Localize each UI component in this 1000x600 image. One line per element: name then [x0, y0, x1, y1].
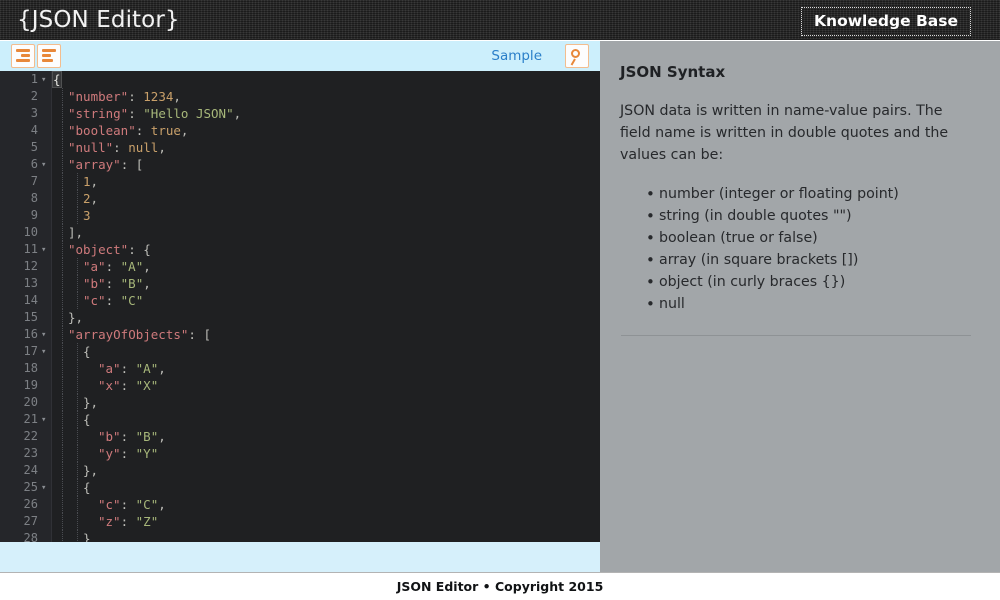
- token-pun: ],: [68, 225, 83, 240]
- token-pun: ,: [181, 123, 189, 138]
- code-content[interactable]: 1▾{2"number": 1234,3"string": "Hello JSO…: [0, 71, 600, 542]
- line-number: 20: [0, 394, 38, 411]
- token-str: "C": [136, 497, 159, 512]
- line-number: 21: [0, 411, 38, 428]
- token-pun: ,: [91, 191, 99, 206]
- code-line[interactable]: 26"c": "C",: [0, 496, 600, 513]
- code-line[interactable]: 93: [0, 207, 600, 224]
- token-str: "C": [121, 293, 144, 308]
- knowledge-base-panel: JSON Syntax JSON data is written in name…: [600, 41, 1000, 572]
- token-pun: :: [121, 446, 136, 461]
- indent-guide: [62, 445, 63, 462]
- indent-guide: [77, 207, 78, 224]
- code-line[interactable]: 25▾{: [0, 479, 600, 496]
- token-str: "X": [136, 378, 159, 393]
- indent-guide: [77, 190, 78, 207]
- code-line[interactable]: 2"number": 1234,: [0, 88, 600, 105]
- indent-guide: [62, 530, 63, 542]
- token-pun: :: [121, 429, 136, 444]
- indent-guide: [77, 394, 78, 411]
- token-str: "Y": [136, 446, 159, 461]
- kb-list-item: object (in curly braces {}): [620, 271, 972, 293]
- line-number: 28: [0, 530, 38, 542]
- token-num: 1234: [143, 89, 173, 104]
- line-number: 23: [0, 445, 38, 462]
- code-line-text: "null": null,: [68, 139, 166, 156]
- indent-guide: [62, 156, 63, 173]
- token-pun: },: [68, 310, 83, 325]
- fold-toggle-icon[interactable]: ▾: [41, 411, 50, 429]
- code-line[interactable]: 24},: [0, 462, 600, 479]
- indent-guide: [77, 462, 78, 479]
- kb-divider: [621, 335, 971, 336]
- indent-guide: [62, 394, 63, 411]
- token-pun: {: [83, 480, 91, 495]
- token-pun: ,: [158, 140, 166, 155]
- token-key: "a": [83, 259, 106, 274]
- kb-value-types-list: number (integer or floating point)string…: [620, 183, 972, 315]
- token-pun: ,: [143, 276, 151, 291]
- kb-list-item: array (in square brackets []): [620, 249, 972, 271]
- token-pun: :: [121, 497, 136, 512]
- code-line[interactable]: 4"boolean": true,: [0, 122, 600, 139]
- token-key: "z": [98, 514, 121, 529]
- token-lit: null: [128, 140, 158, 155]
- indent-guide: [77, 428, 78, 445]
- indent-guide: [62, 513, 63, 530]
- line-number: 8: [0, 190, 38, 207]
- line-number: 7: [0, 173, 38, 190]
- token-key: "arrayOfObjects": [68, 327, 188, 342]
- line-number: 11: [0, 241, 38, 258]
- line-number: 5: [0, 139, 38, 156]
- token-key: "c": [83, 293, 106, 308]
- editor-toolbar: Sample: [0, 41, 600, 71]
- code-line-text: "c": "C",: [98, 496, 166, 513]
- expand-json-icon: [42, 49, 56, 52]
- code-line[interactable]: 23"y": "Y": [0, 445, 600, 462]
- search-button[interactable]: [565, 44, 589, 68]
- line-number: 4: [0, 122, 38, 139]
- code-line-text: },: [83, 462, 98, 479]
- code-line[interactable]: 17▾{: [0, 343, 600, 360]
- indent-guide: [77, 411, 78, 428]
- token-str: "Hello JSON": [143, 106, 233, 121]
- kb-list-item: number (integer or floating point): [620, 183, 972, 205]
- indent-guide: [77, 377, 78, 394]
- code-line-text: "string": "Hello JSON",: [68, 105, 241, 122]
- token-pun: }: [83, 531, 91, 542]
- indent-guide: [77, 292, 78, 309]
- kb-panel-paragraph: JSON data is written in name-value pairs…: [620, 100, 968, 166]
- code-line-text: ],: [68, 224, 83, 241]
- token-num: 2: [83, 191, 91, 206]
- line-number: 13: [0, 275, 38, 292]
- fold-toggle-icon[interactable]: ▾: [41, 71, 50, 89]
- kb-list-item: null: [620, 293, 972, 315]
- indent-guide: [62, 173, 63, 190]
- code-line-text: {: [83, 343, 91, 360]
- token-num: 3: [83, 208, 91, 223]
- code-line[interactable]: 20},: [0, 394, 600, 411]
- token-pun: :: [136, 123, 151, 138]
- line-number: 27: [0, 513, 38, 530]
- code-line-text: {: [83, 479, 91, 496]
- line-number: 18: [0, 360, 38, 377]
- indent-guide: [62, 462, 63, 479]
- code-line-text: "c": "C": [83, 292, 143, 309]
- code-line-text: "a": "A",: [83, 258, 151, 275]
- indent-guide: [62, 309, 63, 326]
- token-pun: :: [106, 259, 121, 274]
- code-line[interactable]: 82,: [0, 190, 600, 207]
- line-number: 15: [0, 309, 38, 326]
- indent-guide: [62, 411, 63, 428]
- indent-guide: [62, 275, 63, 292]
- code-editor[interactable]: 1▾{2"number": 1234,3"string": "Hello JSO…: [0, 71, 600, 542]
- code-line-text: "z": "Z": [98, 513, 158, 530]
- line-number: 3: [0, 105, 38, 122]
- code-line-text: },: [83, 394, 98, 411]
- indent-guide: [77, 445, 78, 462]
- code-line[interactable]: 28}: [0, 530, 600, 542]
- indent-guide: [62, 428, 63, 445]
- fold-toggle-icon[interactable]: ▾: [41, 479, 50, 497]
- indent-guide: [62, 190, 63, 207]
- line-number: 19: [0, 377, 38, 394]
- token-str: "A": [121, 259, 144, 274]
- magnifier-icon: [571, 49, 580, 58]
- token-pun: :: [128, 106, 143, 121]
- line-number: 25: [0, 479, 38, 496]
- fold-toggle-icon[interactable]: ▾: [41, 343, 50, 361]
- token-pun: ,: [143, 259, 151, 274]
- token-pun: ,: [234, 106, 242, 121]
- token-pun: :: [113, 140, 128, 155]
- code-line[interactable]: 15},: [0, 309, 600, 326]
- code-line[interactable]: 71,: [0, 173, 600, 190]
- indent-guide: [62, 496, 63, 513]
- token-key: "array": [68, 157, 121, 172]
- token-pun: : [: [121, 157, 144, 172]
- line-number: 9: [0, 207, 38, 224]
- token-pun: :: [121, 514, 136, 529]
- code-line-text: "y": "Y": [98, 445, 158, 462]
- indent-guide: [62, 343, 63, 360]
- indent-guide: [77, 173, 78, 190]
- code-line[interactable]: 5"null": null,: [0, 139, 600, 156]
- code-line[interactable]: 19"x": "X": [0, 377, 600, 394]
- line-number: 16: [0, 326, 38, 343]
- indent-guide: [77, 479, 78, 496]
- line-number: 17: [0, 343, 38, 360]
- code-line[interactable]: 22"b": "B",: [0, 428, 600, 445]
- indent-guide: [62, 139, 63, 156]
- token-key: "string": [68, 106, 128, 121]
- token-key: "y": [98, 446, 121, 461]
- indent-guide: [77, 530, 78, 542]
- code-line[interactable]: 6▾"array": [: [0, 156, 600, 173]
- token-str: "A": [136, 361, 159, 376]
- fold-toggle-icon[interactable]: ▾: [41, 241, 50, 259]
- kb-panel-title: JSON Syntax: [620, 63, 972, 81]
- line-number: 2: [0, 88, 38, 105]
- token-pun: : [: [188, 327, 211, 342]
- token-pun: :: [106, 276, 121, 291]
- code-line-text: "a": "A",: [98, 360, 166, 377]
- code-line-text: {: [83, 411, 91, 428]
- indent-guide: [62, 241, 63, 258]
- token-key: "b": [83, 276, 106, 291]
- knowledge-base-button[interactable]: Knowledge Base: [801, 7, 971, 36]
- token-str: "Z": [136, 514, 159, 529]
- indent-guide: [62, 105, 63, 122]
- code-line-text: "b": "B",: [83, 275, 151, 292]
- indent-guide: [62, 292, 63, 309]
- line-number: 10: [0, 224, 38, 241]
- code-line-text: },: [68, 309, 83, 326]
- code-line[interactable]: 14"c": "C": [0, 292, 600, 309]
- indent-guide: [77, 496, 78, 513]
- token-pun: : {: [128, 242, 151, 257]
- code-line-text: 3: [83, 207, 91, 224]
- code-line-text: "x": "X": [98, 377, 158, 394]
- code-line-text: "b": "B",: [98, 428, 166, 445]
- line-number: 1: [0, 71, 38, 88]
- token-pun: :: [121, 361, 136, 376]
- token-pun: {: [83, 412, 91, 427]
- token-pun: ,: [158, 429, 166, 444]
- token-key: "object": [68, 242, 128, 257]
- indent-guide: [62, 360, 63, 377]
- token-brace-hl: {: [53, 72, 61, 87]
- fold-toggle-icon[interactable]: ▾: [41, 326, 50, 344]
- token-pun: :: [128, 89, 143, 104]
- code-line-text: "array": [: [68, 156, 143, 173]
- fold-toggle-icon[interactable]: ▾: [41, 156, 50, 174]
- token-str: "B": [121, 276, 144, 291]
- editor-status-bar: [0, 542, 600, 572]
- kb-list-item: boolean (true or false): [620, 227, 972, 249]
- token-num: 1: [83, 174, 91, 189]
- indent-guide: [62, 88, 63, 105]
- indent-guide: [62, 258, 63, 275]
- indent-guide: [77, 343, 78, 360]
- token-key: "a": [98, 361, 121, 376]
- token-key: "x": [98, 378, 121, 393]
- token-pun: },: [83, 463, 98, 478]
- indent-guide: [62, 122, 63, 139]
- code-line-text: "number": 1234,: [68, 88, 181, 105]
- token-key: "b": [98, 429, 121, 444]
- compact-json-icon: [16, 49, 30, 52]
- line-number: 26: [0, 496, 38, 513]
- token-key: "c": [98, 497, 121, 512]
- kb-list-item: string (in double quotes ""): [620, 205, 972, 227]
- code-line[interactable]: 27"z": "Z": [0, 513, 600, 530]
- indent-guide: [62, 326, 63, 343]
- token-pun: ,: [158, 497, 166, 512]
- indent-guide: [62, 207, 63, 224]
- token-pun: :: [106, 293, 121, 308]
- token-key: "null": [68, 140, 113, 155]
- code-line-text: 2,: [83, 190, 98, 207]
- expand-json-button[interactable]: [37, 44, 61, 68]
- code-line-text: "boolean": true,: [68, 122, 188, 139]
- code-line-text: 1,: [83, 173, 98, 190]
- token-pun: :: [121, 378, 136, 393]
- compact-json-button[interactable]: [11, 44, 35, 68]
- line-number: 22: [0, 428, 38, 445]
- token-str: "B": [136, 429, 159, 444]
- token-key: "boolean": [68, 123, 136, 138]
- token-pun: ,: [173, 89, 181, 104]
- code-line[interactable]: 10],: [0, 224, 600, 241]
- code-line[interactable]: 16▾"arrayOfObjects": [: [0, 326, 600, 343]
- code-line[interactable]: 3"string": "Hello JSON",: [0, 105, 600, 122]
- line-number: 14: [0, 292, 38, 309]
- indent-guide: [77, 513, 78, 530]
- json-editor-app: {JSON Editor} Knowledge Base Sample 1▾{2…: [0, 0, 1000, 600]
- code-line[interactable]: 18"a": "A",: [0, 360, 600, 377]
- code-line[interactable]: 11▾"object": {: [0, 241, 600, 258]
- token-pun: {: [83, 344, 91, 359]
- token-key: "number": [68, 89, 128, 104]
- app-title: {JSON Editor}: [17, 5, 180, 35]
- code-line-text: "object": {: [68, 241, 151, 258]
- code-line-text: {: [53, 71, 61, 88]
- indent-guide: [62, 479, 63, 496]
- indent-guide: [77, 360, 78, 377]
- code-line[interactable]: 21▾{: [0, 411, 600, 428]
- token-pun: ,: [158, 361, 166, 376]
- footer-text: JSON Editor • Copyright 2015: [0, 573, 1000, 600]
- indent-guide: [62, 377, 63, 394]
- code-line[interactable]: 13"b": "B",: [0, 275, 600, 292]
- code-line[interactable]: 1▾{: [0, 71, 600, 88]
- line-number: 24: [0, 462, 38, 479]
- page-footer: JSON Editor • Copyright 2015: [0, 572, 1000, 600]
- code-line-text: "arrayOfObjects": [: [68, 326, 211, 343]
- sample-link[interactable]: Sample: [491, 47, 542, 65]
- line-number: 12: [0, 258, 38, 275]
- editor-column: Sample 1▾{2"number": 1234,3"string": "He…: [0, 41, 600, 572]
- indent-guide: [77, 258, 78, 275]
- indent-guide: [77, 275, 78, 292]
- code-line-text: }: [83, 530, 91, 542]
- indent-guide: [62, 224, 63, 241]
- token-lit: true: [151, 123, 181, 138]
- token-pun: ,: [91, 174, 99, 189]
- token-pun: },: [83, 395, 98, 410]
- code-line[interactable]: 12"a": "A",: [0, 258, 600, 275]
- app-header: {JSON Editor} Knowledge Base: [0, 0, 1000, 40]
- line-number: 6: [0, 156, 38, 173]
